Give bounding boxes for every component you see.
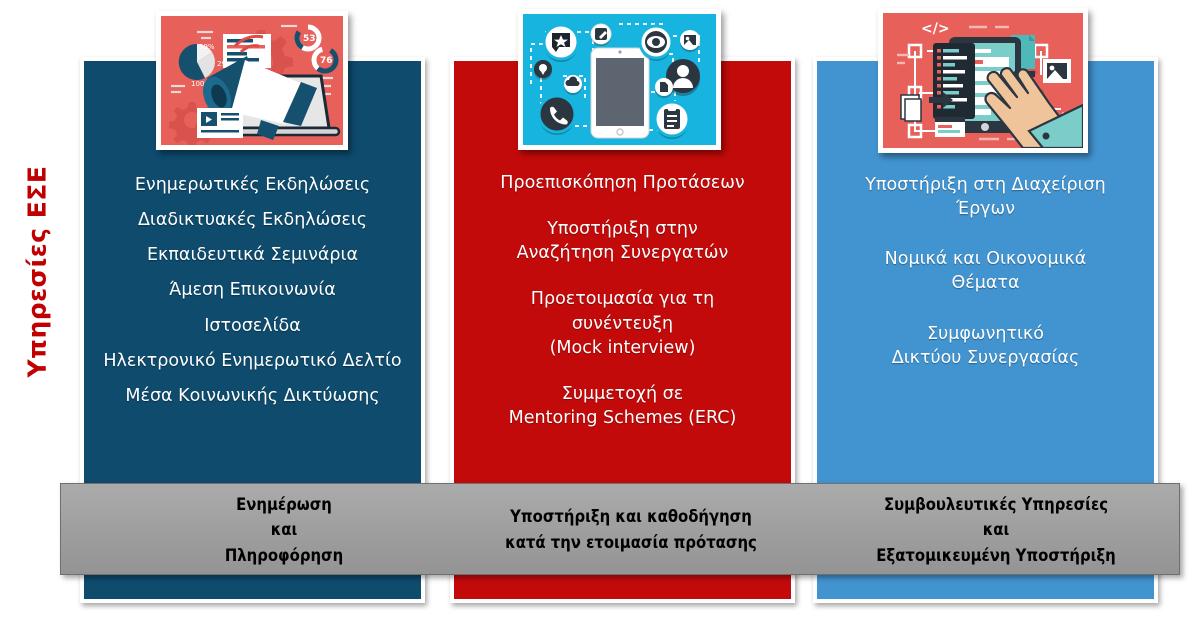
banner-support: Υποστήριξη και καθοδήγηση κατά την ετοιμ… <box>461 484 801 576</box>
banner-line: Συμβουλευτικές Υπηρεσίες <box>884 492 1108 518</box>
column-proposal-support-list: Προεπισκόπηση Προτάσεων Υποστήριξη στηνΑ… <box>454 171 791 452</box>
list-item: Προετοιμασία για τησυνέντευξη(Mock inter… <box>468 287 777 359</box>
hand-tablet-code-illustration-svg: </> </> <box>883 13 1083 148</box>
banner-line: και <box>271 517 298 543</box>
column-advisory-services-list: Υποστήριξη στη ΔιαχείρισηΈργων Νομικά κα… <box>817 173 1154 396</box>
list-item: Υποστήριξη στηνΑναζήτηση Συνεργατών <box>468 217 777 265</box>
banner-line: Ενημέρωση <box>236 492 332 518</box>
list-item: Ηλεκτρονικό Ενημερωτικό Δελτίο <box>98 349 407 373</box>
banner-line: Εξατομικευμένη Υποστήριξη <box>876 543 1115 569</box>
list-item: Ιστοσελίδα <box>98 314 407 338</box>
list-item: Ενημερωτικές Εκδηλώσεις <box>98 173 407 197</box>
list-item: ΣυμφωνητικόΔικτύου Συνεργασίας <box>831 322 1140 370</box>
summary-banner: Ενημέρωση και Πληροφόρηση Υποστήριξη και… <box>60 483 1180 575</box>
tablet-services-illustration-svg <box>523 14 716 145</box>
svg-text:53: 53 <box>303 34 316 44</box>
list-item: Διαδικτυακές Εκδηλώσεις <box>98 208 407 232</box>
svg-text:76: 76 <box>320 56 333 66</box>
list-item: Μέσα Κοινωνικής Δικτύωσης <box>98 384 407 408</box>
banner-line: κατά την ετοιμασία πρότασης <box>505 530 757 556</box>
banner-line: Υποστήριξη και καθοδήγηση <box>510 504 752 530</box>
banner-line: Πληροφόρηση <box>225 543 343 569</box>
svg-text:</>: </> <box>921 21 950 37</box>
list-item: Προεπισκόπηση Προτάσεων <box>468 171 777 195</box>
tablet-connected-services-illustration <box>518 9 721 150</box>
list-item: Νομικά και ΟικονομικάΘέματα <box>831 247 1140 295</box>
banner-information: Ενημέρωση και Πληροφόρηση <box>139 484 429 576</box>
column-information-list: Ενημερωτικές Εκδηλώσεις Διαδικτυακές Εκδ… <box>84 173 421 419</box>
infographic-canvas: Υπηρεσίες ΕΣΕ Ενημερωτικές Εκδηλώσεις Δι… <box>0 0 1200 620</box>
banner-line: και <box>983 517 1010 543</box>
megaphone-illustration-svg: 59% 29% 100% 53 <box>161 16 343 145</box>
list-item: Εκπαιδευτικά Σεμινάρια <box>98 243 407 267</box>
list-item: Υποστήριξη στη ΔιαχείρισηΈργων <box>831 173 1140 221</box>
list-item: Συμμετοχή σεMentoring Schemes (ERC) <box>468 382 777 430</box>
page-title: Υπηρεσίες ΕΣΕ <box>23 152 52 392</box>
megaphone-laptop-marketing-illustration: 59% 29% 100% 53 <box>156 11 348 150</box>
svg-text:59%: 59% <box>199 43 215 51</box>
list-item: Άμεση Επικοινωνία <box>98 278 407 302</box>
hand-tablet-code-illustration: </> </> <box>878 8 1088 153</box>
banner-advisory: Συμβουλευτικές Υπηρεσίες και Εξατομικευμ… <box>821 484 1171 576</box>
